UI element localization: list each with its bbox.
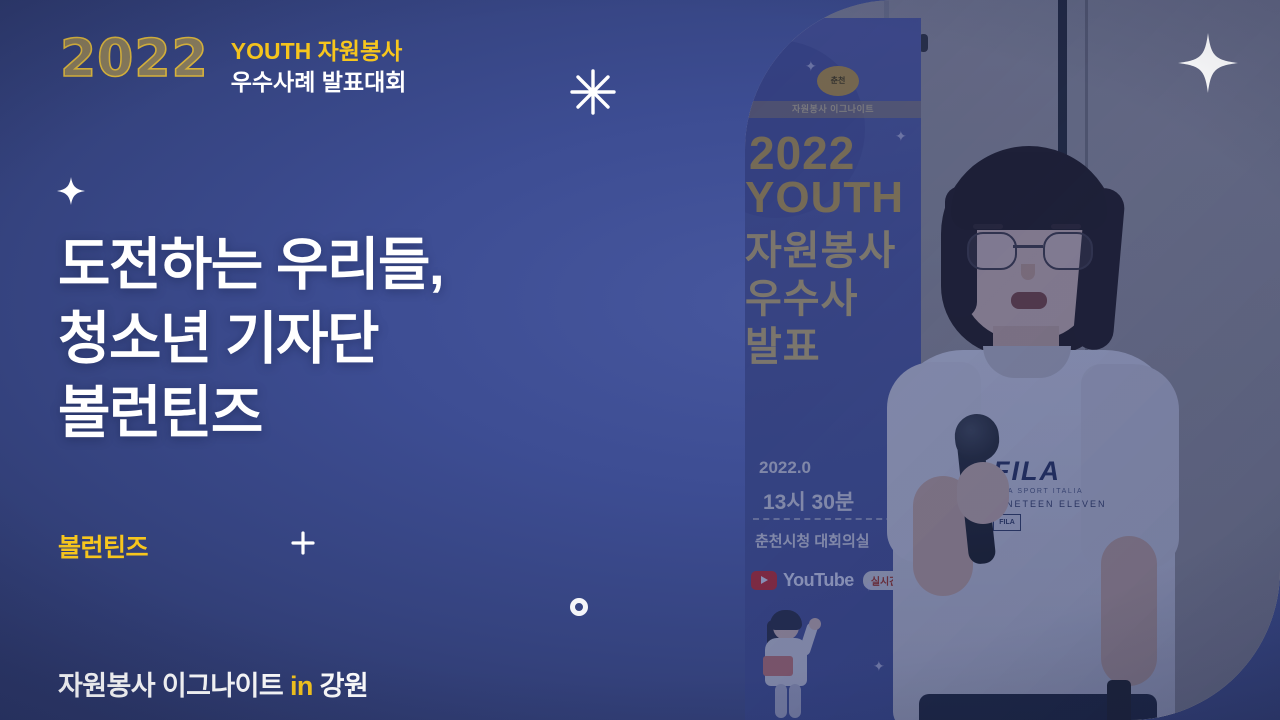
presenter-nose xyxy=(1021,264,1035,280)
shirt-logo-block: FILA FILA SPORT ITALIA NINETEEN ELEVEN F… xyxy=(993,458,1113,531)
banner-year: 2022 xyxy=(749,126,855,180)
presenter-hair-top xyxy=(951,152,1107,230)
presenter-eyebrow-left xyxy=(973,224,1003,229)
glasses-bridge xyxy=(1013,245,1043,248)
title-line-3: 볼런틴즈 xyxy=(58,376,718,450)
star-8point-icon xyxy=(569,68,617,116)
sparkle-4point-photo-icon xyxy=(1177,32,1239,94)
ring-decoration-icon xyxy=(570,598,588,616)
presenter-figure: FILA FILA SPORT ITALIA NINETEEN ELEVEN F… xyxy=(865,146,1195,720)
illustration-hand xyxy=(809,618,821,630)
illustration-book xyxy=(763,656,793,676)
presenter-glasses-icon xyxy=(965,232,1093,266)
photo-content: 춘천 자원봉사 이그나이트 2022 YOUTH 자원봉사 우수사 발표 202… xyxy=(745,0,1280,720)
fila-subtext: FILA SPORT ITALIA xyxy=(993,488,1113,495)
header-title-lines: YOUTH 자원봉사 우수사례 발표대회 xyxy=(231,33,407,97)
banner-date: 2022.0 xyxy=(759,458,811,478)
title-line-1: 도전하는 우리들, xyxy=(58,228,718,302)
youtube-play-icon xyxy=(751,571,777,590)
plus-sparkle-icon xyxy=(290,530,316,556)
footer-part-1: 자원봉사 이그나이트 xyxy=(58,671,290,701)
glasses-lens-left xyxy=(967,232,1017,270)
banner-time: 13시 30분 xyxy=(763,486,854,516)
footer-part-2: 강원 xyxy=(313,671,368,701)
team-name-label: 볼런틴즈 xyxy=(58,528,148,564)
presenter-mouth xyxy=(1011,292,1047,309)
footer-in-word: in xyxy=(290,671,313,701)
illustration-leg-left xyxy=(775,684,787,718)
presenter-hand xyxy=(957,462,1009,524)
title-line-2: 청소년 기자단 xyxy=(58,302,718,376)
header-block: 2022 YOUTH 자원봉사 우수사례 발표대회 xyxy=(60,33,406,97)
sparkle-4point-left-icon xyxy=(56,176,86,206)
fila-box-label: FILA xyxy=(999,519,1015,526)
banner-badge-label: 춘천 xyxy=(817,66,859,96)
banner-balpyo: 발표 xyxy=(745,314,821,372)
illustration-hair xyxy=(770,610,802,630)
illustration-leg-right xyxy=(789,684,801,718)
fila-wordmark: FILA xyxy=(993,458,1113,485)
presenter-forearm-right xyxy=(1101,536,1157,686)
page-title: 도전하는 우리들, 청소년 기자단 볼런틴즈 xyxy=(58,228,718,450)
presenter-eyebrow-right xyxy=(1051,224,1081,229)
banner-badge: 춘천 xyxy=(817,66,859,96)
banner-illustration xyxy=(749,612,841,720)
banner-sparkle-icon-4: ✦ xyxy=(895,128,907,145)
banner-ribbon-label: 자원봉사 이그나이트 xyxy=(745,101,921,118)
banner-place: 춘천시청 대회의실 xyxy=(755,530,870,551)
banner-sparkle-icon-3: ✦ xyxy=(805,58,817,75)
header-line-2: 우수사례 발표대회 xyxy=(231,67,407,98)
slide-root: 2022 YOUTH 자원봉사 우수사례 발표대회 도전하는 우리들, 청소년 … xyxy=(0,0,1280,720)
speaker-photo: 춘천 자원봉사 이그나이트 2022 YOUTH 자원봉사 우수사 발표 202… xyxy=(745,0,1280,720)
header-line-1: YOUTH 자원봉사 xyxy=(231,36,407,67)
presenter-held-phone xyxy=(1107,680,1131,720)
header-year: 2022 xyxy=(60,33,209,85)
banner-ribbon: 자원봉사 이그나이트 xyxy=(745,101,921,118)
fila-subtext-2: NINETEEN ELEVEN xyxy=(993,499,1113,509)
youtube-label: YouTube xyxy=(783,570,854,591)
glasses-lens-right xyxy=(1043,232,1093,270)
footer-brand: 자원봉사 이그나이트 in 강원 xyxy=(58,664,368,703)
